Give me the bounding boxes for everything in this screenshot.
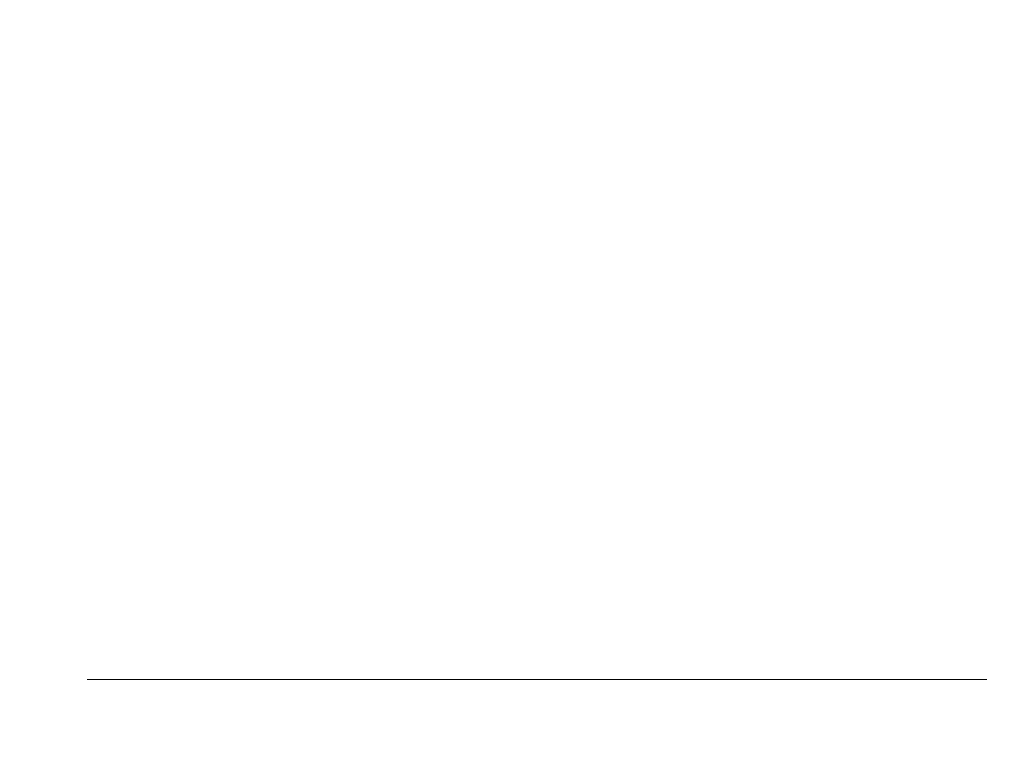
plot-panels	[87, 76, 987, 670]
chart-figure	[0, 0, 1024, 768]
x-axis-line	[87, 679, 987, 680]
x-axis	[87, 670, 987, 730]
